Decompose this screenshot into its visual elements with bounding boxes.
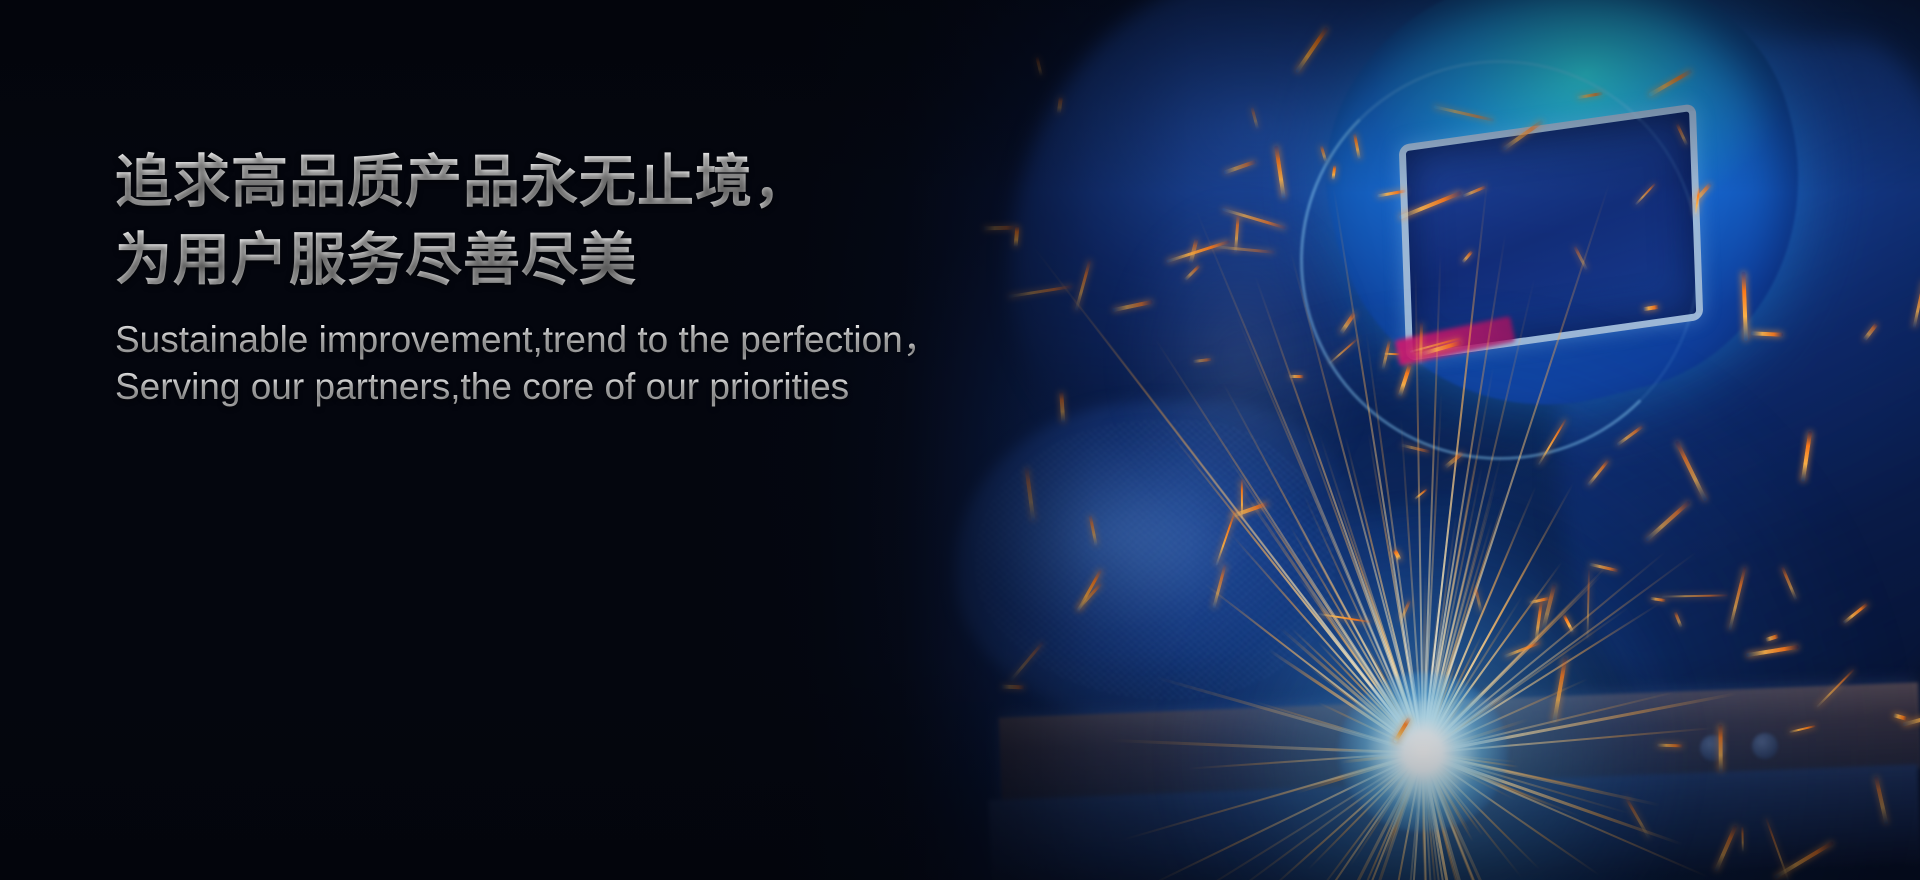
welding-photo bbox=[0, 0, 1920, 880]
spark bbox=[1240, 479, 1242, 519]
hero-banner: 追求高品质产品永无止境， 为用户服务尽善尽美 Sustainable impro… bbox=[0, 0, 1920, 880]
headline-line-2: 为用户服务尽善尽美 bbox=[115, 218, 1015, 302]
spark bbox=[1001, 685, 1025, 690]
headline-line-1: 追求高品质产品永无止境， bbox=[115, 140, 1015, 224]
arc-core bbox=[1338, 672, 1508, 832]
spark bbox=[1718, 724, 1722, 771]
subtitle-line-1: Sustainable improvement,trend to the per… bbox=[115, 316, 1015, 363]
hero-text-block: 追求高品质产品永无止境， 为用户服务尽善尽美 Sustainable impro… bbox=[115, 140, 1015, 410]
subtitle-line-2: Serving our partners,the core of our pri… bbox=[115, 363, 1015, 410]
